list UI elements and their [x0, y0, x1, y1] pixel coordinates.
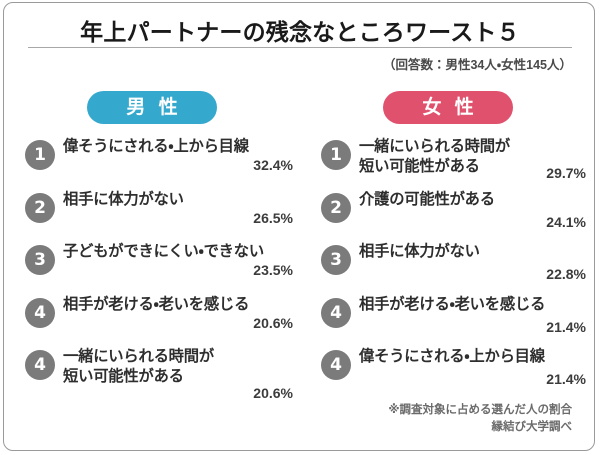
- footer: ※調査対象に占める選んだ人の割合 縁結び大学調べ: [388, 402, 572, 436]
- rank-badge: 2: [25, 193, 55, 223]
- female-gender-badge: 女 性: [383, 91, 513, 124]
- male-rank-list: 1 偉そうにされる・上から目線 32.4% 2 相手に体力がない 26.5% 3…: [4, 137, 300, 400]
- rank-percent: 23.5%: [253, 262, 293, 278]
- rank-row: 2 相手に体力がない 26.5%: [4, 190, 300, 243]
- rank-badge: 1: [25, 140, 55, 170]
- rank-label-line: 子どもができにくい・できない: [63, 242, 245, 262]
- male-gender-badge: 男 性: [87, 91, 217, 124]
- rank-percent: 20.6%: [253, 385, 293, 401]
- rank-row: 1 一緒にいられる時間が 短い可能性がある 29.7%: [300, 137, 596, 190]
- rank-percent: 32.4%: [253, 157, 293, 173]
- rank-badge: 2: [321, 193, 351, 223]
- respondents-note: （回答数：男性34人・女性145人）: [383, 54, 572, 73]
- rank-label-line: 偉そうにされる・上から目線: [63, 137, 245, 157]
- rank-label: 偉そうにされる・上から目線: [359, 347, 534, 367]
- infographic-card: 年上パートナーの残念なところワースト５ （回答数：男性34人・女性145人） 男…: [3, 2, 595, 451]
- rank-percent: 22.8%: [546, 266, 586, 282]
- rank-badge: 4: [25, 298, 55, 328]
- rank-row: 4 一緒にいられる時間が 短い可能性がある 20.6%: [4, 347, 300, 400]
- rank-badge: 4: [321, 350, 351, 380]
- rank-label-line: 一緒にいられる時間が: [359, 137, 534, 157]
- rank-percent: 21.4%: [546, 371, 586, 387]
- rank-label-line: 短い可能性がある: [359, 157, 534, 177]
- rank-row: 4 偉そうにされる・上から目線 21.4%: [300, 347, 596, 400]
- rank-label: 偉そうにされる・上から目線: [63, 137, 245, 157]
- rank-row: 2 介護の可能性がある 24.1%: [300, 190, 596, 243]
- rank-label-line: 相手が老ける・老いを感じる: [63, 295, 245, 315]
- rank-label: 相手が老ける・老いを感じる: [359, 295, 534, 315]
- footer-note: ※調査対象に占める選んだ人の割合: [388, 402, 572, 419]
- rank-label: 介護の可能性がある: [359, 190, 534, 210]
- male-column: 男 性 1 偉そうにされる・上から目線 32.4% 2 相手に体力がない 26.…: [4, 91, 300, 401]
- rank-percent: 21.4%: [546, 319, 586, 335]
- rank-percent: 20.6%: [253, 315, 293, 331]
- rank-label-line: 相手が老ける・老いを感じる: [359, 295, 534, 315]
- rank-label-line: 介護の可能性がある: [359, 190, 534, 210]
- rank-percent: 29.7%: [546, 165, 586, 181]
- rank-label: 相手に体力がない: [63, 190, 245, 210]
- rank-percent: 24.1%: [546, 214, 586, 230]
- rank-percent: 26.5%: [253, 210, 293, 226]
- rank-row: 4 相手が老ける・老いを感じる 20.6%: [4, 295, 300, 348]
- rank-label-line: 一緒にいられる時間が: [63, 347, 245, 367]
- rank-row: 4 相手が老ける・老いを感じる 21.4%: [300, 295, 596, 348]
- rank-label-line: 相手に体力がない: [359, 242, 534, 262]
- rank-badge: 4: [321, 298, 351, 328]
- rank-badge: 1: [321, 140, 351, 170]
- female-column: 女 性 1 一緒にいられる時間が 短い可能性がある 29.7% 2 介護の可能性…: [300, 91, 596, 401]
- rank-row: 1 偉そうにされる・上から目線 32.4%: [4, 137, 300, 190]
- female-rank-list: 1 一緒にいられる時間が 短い可能性がある 29.7% 2 介護の可能性がある …: [300, 137, 596, 400]
- rank-label: 子どもができにくい・できない: [63, 242, 245, 262]
- rank-badge: 3: [321, 245, 351, 275]
- rank-badge: 4: [25, 350, 55, 380]
- rank-label: 相手が老ける・老いを感じる: [63, 295, 245, 315]
- title-divider: [28, 47, 572, 48]
- rank-row: 3 子どもができにくい・できない 23.5%: [4, 242, 300, 295]
- footer-source: 縁結び大学調べ: [388, 419, 572, 436]
- rank-badge: 3: [25, 245, 55, 275]
- rank-label-line: 短い可能性がある: [63, 367, 245, 387]
- rank-label: 相手に体力がない: [359, 242, 534, 262]
- rank-row: 3 相手に体力がない 22.8%: [300, 242, 596, 295]
- page-title: 年上パートナーの残念なところワースト５: [4, 13, 596, 47]
- rank-label-line: 相手に体力がない: [63, 190, 245, 210]
- rank-label: 一緒にいられる時間が 短い可能性がある: [63, 347, 245, 386]
- rank-label: 一緒にいられる時間が 短い可能性がある: [359, 137, 534, 176]
- rank-label-line: 偉そうにされる・上から目線: [359, 347, 534, 367]
